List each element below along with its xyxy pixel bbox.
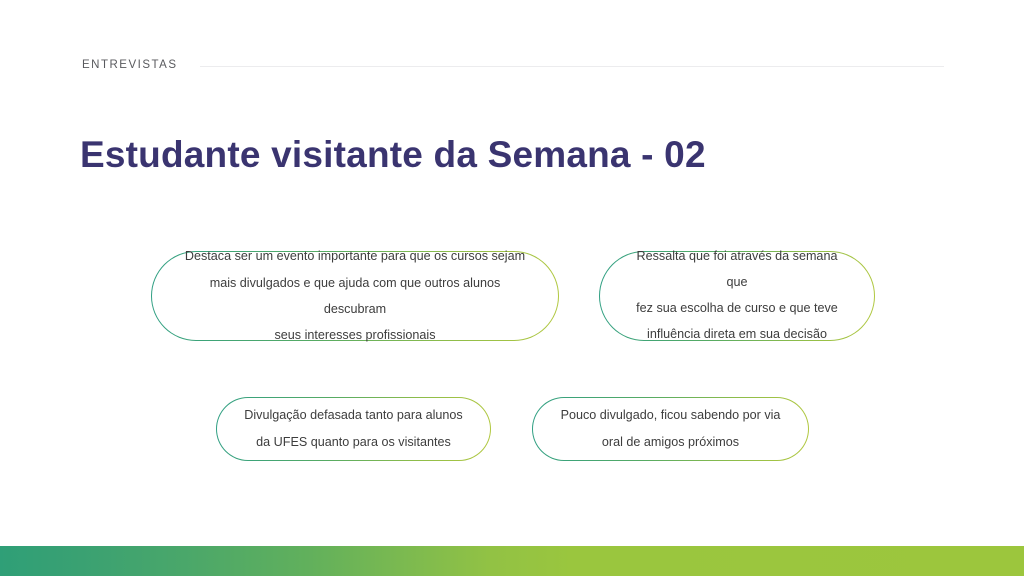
insight-card-4-text: Pouco divulgado, ficou sabendo por via o… <box>561 402 781 456</box>
insight-card-3: Divulgação defasada tanto para alunos da… <box>217 398 490 460</box>
page-title: Estudante visitante da Semana - 02 <box>80 132 706 178</box>
insight-card-1-line-3: seus interesses profissionais <box>275 328 436 342</box>
insight-card-2: Ressalta que foi através da semana que f… <box>600 252 874 340</box>
insight-card-2-line-1: Ressalta que foi através da semana que <box>637 249 838 289</box>
insight-card-4: Pouco divulgado, ficou sabendo por via o… <box>533 398 808 460</box>
breadcrumb: ENTREVISTAS <box>82 56 944 76</box>
slide-root: ENTREVISTAS Estudante visitante da Seman… <box>0 0 1024 576</box>
insight-card-3-line-2: da UFES quanto para os visitantes <box>256 435 451 449</box>
insight-card-2-line-3: influência direta em sua decisão <box>647 327 827 341</box>
footer-gradient-band <box>0 546 1024 576</box>
insight-card-4-line-1: Pouco divulgado, ficou sabendo por via <box>561 408 781 422</box>
insight-card-3-text: Divulgação defasada tanto para alunos da… <box>244 402 462 456</box>
insight-card-1-line-1: Destaca ser um evento importante para qu… <box>185 249 525 263</box>
insight-card-1-line-2: mais divulgados e que ajuda com que outr… <box>210 276 501 316</box>
insight-card-1: Destaca ser um evento importante para qu… <box>152 252 558 340</box>
insight-card-3-line-1: Divulgação defasada tanto para alunos <box>244 408 462 422</box>
insight-card-4-line-2: oral de amigos próximos <box>602 435 739 449</box>
insight-card-2-text: Ressalta que foi através da semana que f… <box>626 244 848 347</box>
insight-card-2-line-2: fez sua escolha de curso e que teve <box>636 301 838 315</box>
section-eyebrow-label: ENTREVISTAS <box>82 60 178 72</box>
header-divider <box>200 66 944 67</box>
insight-card-1-text: Destaca ser um evento importante para qu… <box>178 243 532 349</box>
